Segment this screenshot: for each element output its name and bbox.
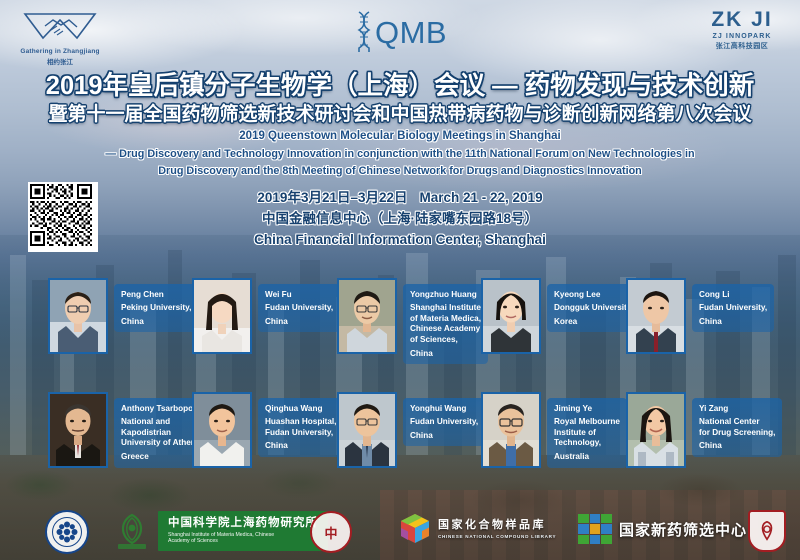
speaker-photo: [192, 278, 252, 354]
speaker-card[interactable]: Yonghui Wang Fudan University, China: [337, 392, 485, 468]
title-chinese-line2: 暨第十一届全国药物筛选新技术研讨会和中国热带病药物与诊断创新网络第八次会议: [0, 104, 800, 126]
subtitle-english: 2019 Queenstown Molecular Biology Meetin…: [0, 128, 800, 179]
event-date-en: March 21 - 22, 2019: [420, 190, 543, 205]
speaker-name: Qinghua Wang: [265, 403, 336, 414]
speaker-country: China: [265, 441, 336, 452]
seal-inner-ring: [52, 517, 82, 547]
round-seal-icon: 中: [310, 511, 352, 553]
speaker-info: Peng Chen Peking University, China: [114, 284, 198, 332]
page-title: 2019年皇后镇分子生物学（上海）会议 — 药物发现与技术创新 暨第十一届全国药…: [0, 72, 800, 125]
left-logo-caption-cn: 相约张江: [14, 56, 106, 66]
speaker-info: Qinghua Wang Huashan Hospital, Fudan Uni…: [258, 398, 343, 457]
speaker-card[interactable]: Yongzhuo Huang Shanghai Institute of Mat…: [337, 278, 488, 364]
shield-seal-icon: [748, 510, 786, 552]
simm-name-cn: 中国科学院上海药物研究所: [168, 517, 318, 530]
speaker-photo: [337, 278, 397, 354]
conference-poster: Gathering in Zhangjiang 相约张江 QMB ZK JI Z…: [0, 0, 800, 560]
speaker-name: Yongzhuo Huang: [410, 289, 481, 300]
speaker-name: Peng Chen: [121, 289, 191, 300]
speakers-grid: Peng Chen Peking University, China Wei F…: [0, 270, 800, 490]
dna-helix-icon: [355, 10, 373, 54]
speaker-name: Yonghui Wang: [410, 403, 478, 414]
speaker-card[interactable]: Kyeong Lee Dongguk University, Korea: [481, 278, 640, 354]
portrait-icon: [50, 280, 106, 352]
speaker-country: China: [699, 317, 767, 328]
qr-code-image: [30, 184, 92, 246]
speaker-photo: [48, 278, 108, 354]
speaker-country: Australia: [554, 452, 620, 463]
event-venue-en: China Financial Information Center, Shan…: [0, 230, 800, 251]
circle-seal-icon: [45, 510, 89, 554]
sponsor-logo-shanghai-jiaotong[interactable]: [45, 510, 89, 554]
subtitle-line3: Drug Discovery and the 8th Meeting of Ch…: [0, 163, 800, 180]
speaker-photo: [626, 278, 686, 354]
portrait-icon: [628, 394, 684, 466]
event-details: 2019年3月21日–3月22日March 21 - 22, 2019 中国金融…: [0, 188, 800, 251]
zj-innopark-logo: ZK JI ZJ INNOPARK 张江高科技园区: [698, 9, 786, 51]
qmb-logo-text: QMB: [375, 17, 447, 48]
speaker-card[interactable]: Cong Li Fudan University, China: [626, 278, 774, 354]
portrait-icon: [339, 280, 395, 352]
speaker-photo: [626, 392, 686, 468]
subtitle-line1: 2019 Queenstown Molecular Biology Meetin…: [0, 128, 800, 146]
cncl-name-en: CHINESE NATIONAL COMPOUND LIBRARY: [438, 534, 556, 539]
qr-code[interactable]: [28, 182, 98, 252]
event-date-line: 2019年3月21日–3月22日March 21 - 22, 2019: [0, 188, 800, 209]
event-venue-cn: 中国金融信息中心（上海·陆家嘴东园路18号）: [0, 209, 800, 230]
speaker-affiliation: Dongguk University,: [554, 303, 633, 314]
title-chinese-line1: 2019年皇后镇分子生物学（上海）会议 — 药物发现与技术创新: [0, 72, 800, 101]
speaker-info: Yi Zang National Center for Drug Screeni…: [692, 398, 782, 457]
ndsc-name-cn: 国家新药筛选中心: [619, 519, 747, 540]
portrait-icon: [194, 280, 250, 352]
speaker-info: Yongzhuo Huang Shanghai Institute of Mat…: [403, 284, 488, 364]
speaker-affiliation: Shanghai Institute of Materia Medica, Ch…: [410, 303, 481, 346]
speaker-card[interactable]: Jiming Ye Royal Melbourne Institute of T…: [481, 392, 627, 468]
speaker-card[interactable]: Qinghua Wang Huashan Hospital, Fudan Uni…: [192, 392, 343, 468]
portrait-icon: [50, 394, 106, 466]
speaker-country: Korea: [554, 317, 633, 328]
color-cube-icon: [398, 512, 432, 546]
sponsor-logo-compound-library[interactable]: 国家化合物样品库 CHINESE NATIONAL COMPOUND LIBRA…: [398, 512, 556, 546]
portrait-icon: [483, 280, 539, 352]
qmb-logo: QMB: [355, 10, 447, 54]
speaker-country: China: [410, 349, 481, 360]
speaker-affiliation: Fudan University,: [265, 303, 333, 314]
speaker-card[interactable]: Yi Zang National Center for Drug Screeni…: [626, 392, 782, 468]
speaker-info: Yonghui Wang Fudan University, China: [403, 398, 485, 446]
speaker-country: China: [410, 431, 478, 442]
zkji-sub-cn: 张江高科技园区: [698, 41, 786, 51]
subtitle-line2: — Drug Discovery and Technology Innovati…: [0, 146, 800, 163]
mosaic-icon: [578, 514, 612, 544]
speaker-photo: [481, 278, 541, 354]
portrait-icon: [628, 280, 684, 352]
shield-emblem-icon: [756, 519, 778, 543]
sponsor-logo-drug-screening-center[interactable]: 国家新药筛选中心: [578, 514, 747, 544]
speaker-info: Wei Fu Fudan University, China: [258, 284, 340, 332]
speaker-affiliation: Royal Melbourne Institute of Technology,: [554, 417, 620, 449]
speaker-affiliation: National Center for Drug Screening,: [699, 417, 775, 438]
portrait-icon: [339, 394, 395, 466]
speaker-name: Cong Li: [699, 289, 767, 300]
speaker-photo: [337, 392, 397, 468]
speaker-country: China: [121, 317, 191, 328]
cncl-name-cn: 国家化合物样品库: [438, 519, 556, 531]
speaker-name: Kyeong Lee: [554, 289, 633, 300]
zkji-sub-en: ZJ INNOPARK: [698, 33, 786, 40]
gathering-in-zhangjiang-logo: Gathering in Zhangjiang 相约张江: [14, 8, 106, 66]
speaker-info: Cong Li Fudan University, China: [692, 284, 774, 332]
speaker-card[interactable]: Wei Fu Fudan University, China: [192, 278, 340, 354]
sponsor-logo-green-leaf[interactable]: [112, 512, 152, 555]
cncl-logo: 国家化合物样品库 CHINESE NATIONAL COMPOUND LIBRA…: [398, 512, 556, 546]
speaker-photo: [192, 392, 252, 468]
speaker-affiliation: Peking University,: [121, 303, 191, 314]
simm-name-en: Shanghai Institute of Materia Medica, Ch…: [168, 532, 318, 545]
portrait-icon: [483, 394, 539, 466]
speaker-affiliation: Fudan University,: [699, 303, 767, 314]
speaker-name: Jiming Ye: [554, 403, 620, 414]
simm-green-banner: 中国科学院上海药物研究所 Shanghai Institute of Mater…: [158, 511, 328, 551]
portrait-icon: [194, 394, 250, 466]
speaker-country: China: [265, 317, 333, 328]
speaker-photo: [48, 392, 108, 468]
speaker-country: China: [699, 441, 775, 452]
zkji-mark: ZK JI: [698, 9, 786, 31]
handshake-icon: [21, 8, 99, 42]
left-logo-caption-en: Gathering in Zhangjiang: [14, 48, 106, 55]
speaker-card[interactable]: Peng Chen Peking University, China: [48, 278, 198, 354]
event-date-cn: 2019年3月21日–3月22日: [257, 190, 407, 205]
sponsor-logo-red-seal[interactable]: 中: [310, 511, 352, 553]
cncl-labels: 国家化合物样品库 CHINESE NATIONAL COMPOUND LIBRA…: [438, 519, 556, 538]
sponsor-logo-red-shield[interactable]: [748, 510, 786, 552]
leaf-emblem-icon: [112, 512, 152, 550]
speaker-info: Jiming Ye Royal Melbourne Institute of T…: [547, 398, 627, 468]
top-logo-bar: Gathering in Zhangjiang 相约张江 QMB ZK JI Z…: [0, 0, 800, 68]
sponsor-banner-simm[interactable]: 中国科学院上海药物研究所 Shanghai Institute of Mater…: [158, 511, 328, 551]
ndsc-logo: 国家新药筛选中心: [578, 514, 747, 544]
speaker-name: Yi Zang: [699, 403, 775, 414]
speaker-affiliation: Huashan Hospital, Fudan University,: [265, 417, 336, 438]
speaker-name: Wei Fu: [265, 289, 333, 300]
speaker-affiliation: Fudan University,: [410, 417, 478, 428]
sponsor-bar: 中国科学院上海药物研究所 Shanghai Institute of Mater…: [0, 500, 800, 560]
flower-emblem-icon: [53, 518, 81, 546]
speaker-photo: [481, 392, 541, 468]
